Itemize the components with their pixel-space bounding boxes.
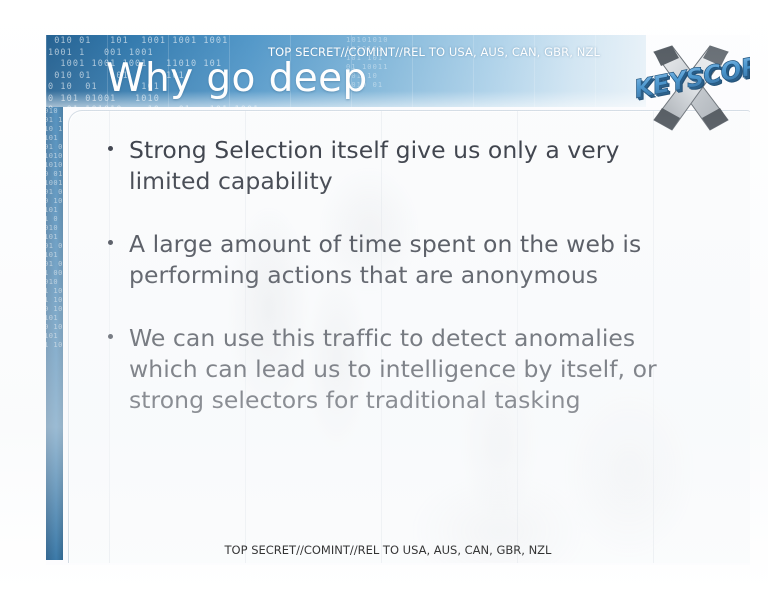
bullet-text: A large amount of time spent on the web … — [129, 229, 668, 291]
bullet-point-icon — [108, 229, 129, 245]
bullet-item: We can use this traffic to detect anomal… — [108, 323, 668, 416]
bullet-item: Strong Selection itself give us only a v… — [108, 135, 668, 197]
binary-spine-decoration: 010 01 101 1001 1001 1001 10011 001 1001… — [46, 35, 63, 560]
scanned-slide-page: 010 01 101 1001 1001 1001 10011 001 1001… — [0, 0, 768, 593]
xkeyscore-logo: KEYSCORE KEYSCORE KEYSCORE — [632, 36, 750, 144]
slide-title: Why go deep — [106, 57, 368, 101]
bullet-point-icon — [108, 135, 129, 151]
bullet-text: We can use this traffic to detect anomal… — [129, 323, 668, 416]
bullet-item: A large amount of time spent on the web … — [108, 229, 668, 291]
bullet-text: Strong Selection itself give us only a v… — [129, 135, 668, 197]
bullet-list: Strong Selection itself give us only a v… — [108, 135, 668, 416]
classification-banner-bottom: TOP SECRET//COMINT//REL TO USA, AUS, CAN… — [68, 543, 708, 557]
bullet-point-icon — [108, 323, 129, 339]
slide-canvas: 010 01 101 1001 1001 1001 10011 001 1001… — [46, 35, 750, 565]
